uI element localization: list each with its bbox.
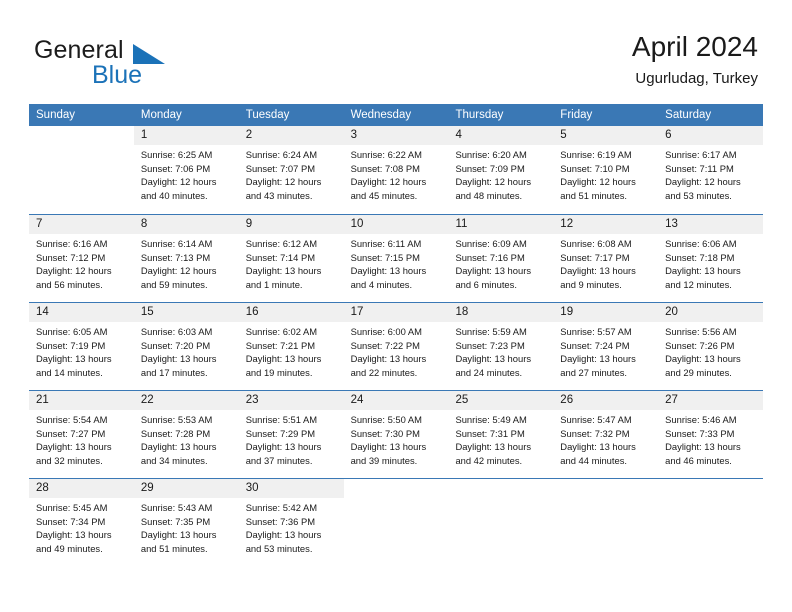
daylight-text-line1: Daylight: 13 hours <box>560 440 653 454</box>
day-number-band: 9 <box>239 215 344 234</box>
daylight-text-line1: Daylight: 13 hours <box>351 352 444 366</box>
sunrise-text: Sunrise: 6:02 AM <box>246 325 339 339</box>
day-details: Sunrise: 6:19 AM Sunset: 7:10 PM Dayligh… <box>553 145 658 202</box>
daylight-text-line1: Daylight: 13 hours <box>560 352 653 366</box>
sunrise-text: Sunrise: 6:24 AM <box>246 148 339 162</box>
day-details: Sunrise: 6:20 AM Sunset: 7:09 PM Dayligh… <box>448 145 553 202</box>
day-number-band: 4 <box>448 126 553 145</box>
day-cell[interactable]: 18 Sunrise: 5:59 AM Sunset: 7:23 PM Dayl… <box>448 303 553 390</box>
day-details: Sunrise: 5:51 AM Sunset: 7:29 PM Dayligh… <box>239 410 344 467</box>
calendar-week-row: 7 Sunrise: 6:16 AM Sunset: 7:12 PM Dayli… <box>29 214 763 302</box>
daylight-text-line2: and 37 minutes. <box>246 454 339 468</box>
day-cell[interactable]: 23 Sunrise: 5:51 AM Sunset: 7:29 PM Dayl… <box>239 391 344 478</box>
sunrise-text: Sunrise: 5:51 AM <box>246 413 339 427</box>
day-cell[interactable] <box>658 479 763 566</box>
day-number: 15 <box>134 303 239 322</box>
day-details: Sunrise: 6:16 AM Sunset: 7:12 PM Dayligh… <box>29 234 134 291</box>
daylight-text-line1: Daylight: 12 hours <box>455 175 548 189</box>
daylight-text-line1: Daylight: 13 hours <box>36 440 129 454</box>
day-number-band: 29 <box>134 479 239 498</box>
day-details: Sunrise: 5:50 AM Sunset: 7:30 PM Dayligh… <box>344 410 449 467</box>
day-number-band <box>29 126 134 145</box>
daylight-text-line2: and 1 minute. <box>246 278 339 292</box>
day-number: 8 <box>134 215 239 234</box>
daylight-text-line2: and 51 minutes. <box>560 189 653 203</box>
day-cell[interactable]: 10 Sunrise: 6:11 AM Sunset: 7:15 PM Dayl… <box>344 215 449 302</box>
daylight-text-line1: Daylight: 12 hours <box>36 264 129 278</box>
sunrise-text: Sunrise: 5:54 AM <box>36 413 129 427</box>
day-number-band: 3 <box>344 126 449 145</box>
day-number-band <box>658 479 763 498</box>
sunset-text: Sunset: 7:30 PM <box>351 427 444 441</box>
sunset-text: Sunset: 7:20 PM <box>141 339 234 353</box>
day-details <box>553 498 658 501</box>
sunset-text: Sunset: 7:07 PM <box>246 162 339 176</box>
daylight-text-line1: Daylight: 13 hours <box>351 264 444 278</box>
sunrise-text: Sunrise: 6:14 AM <box>141 237 234 251</box>
calendar-week-row: 14 Sunrise: 6:05 AM Sunset: 7:19 PM Dayl… <box>29 302 763 390</box>
weekday-header-thursday: Thursday <box>448 104 553 126</box>
sunset-text: Sunset: 7:34 PM <box>36 515 129 529</box>
day-number-band: 17 <box>344 303 449 322</box>
day-number-band: 7 <box>29 215 134 234</box>
day-cell[interactable]: 12 Sunrise: 6:08 AM Sunset: 7:17 PM Dayl… <box>553 215 658 302</box>
day-details: Sunrise: 6:25 AM Sunset: 7:06 PM Dayligh… <box>134 145 239 202</box>
daylight-text-line2: and 17 minutes. <box>141 366 234 380</box>
daylight-text-line1: Daylight: 13 hours <box>246 264 339 278</box>
day-number-band: 1 <box>134 126 239 145</box>
sunrise-text: Sunrise: 6:20 AM <box>455 148 548 162</box>
daylight-text-line2: and 22 minutes. <box>351 366 444 380</box>
logo-text-blue: Blue <box>92 61 142 90</box>
day-cell[interactable]: 25 Sunrise: 5:49 AM Sunset: 7:31 PM Dayl… <box>448 391 553 478</box>
day-number: 28 <box>29 479 134 498</box>
day-details: Sunrise: 5:43 AM Sunset: 7:35 PM Dayligh… <box>134 498 239 555</box>
day-details: Sunrise: 6:24 AM Sunset: 7:07 PM Dayligh… <box>239 145 344 202</box>
daylight-text-line1: Daylight: 13 hours <box>36 528 129 542</box>
day-cell[interactable]: 3 Sunrise: 6:22 AM Sunset: 7:08 PM Dayli… <box>344 126 449 214</box>
daylight-text-line2: and 51 minutes. <box>141 542 234 556</box>
day-cell[interactable]: 9 Sunrise: 6:12 AM Sunset: 7:14 PM Dayli… <box>239 215 344 302</box>
day-details: Sunrise: 5:46 AM Sunset: 7:33 PM Dayligh… <box>658 410 763 467</box>
day-number: 13 <box>658 215 763 234</box>
day-number-band <box>344 479 449 498</box>
day-number: 2 <box>239 126 344 145</box>
day-cell[interactable] <box>448 479 553 566</box>
sunrise-text: Sunrise: 6:19 AM <box>560 148 653 162</box>
day-details <box>658 498 763 501</box>
day-cell[interactable]: 5 Sunrise: 6:19 AM Sunset: 7:10 PM Dayli… <box>553 126 658 214</box>
day-cell[interactable]: 19 Sunrise: 5:57 AM Sunset: 7:24 PM Dayl… <box>553 303 658 390</box>
weekday-header-row: Sunday Monday Tuesday Wednesday Thursday… <box>29 104 763 126</box>
sunset-text: Sunset: 7:22 PM <box>351 339 444 353</box>
day-cell[interactable]: 24 Sunrise: 5:50 AM Sunset: 7:30 PM Dayl… <box>344 391 449 478</box>
sunrise-text: Sunrise: 6:06 AM <box>665 237 758 251</box>
sunset-text: Sunset: 7:13 PM <box>141 251 234 265</box>
daylight-text-line2: and 53 minutes. <box>665 189 758 203</box>
sunrise-text: Sunrise: 5:45 AM <box>36 501 129 515</box>
day-cell[interactable]: 14 Sunrise: 6:05 AM Sunset: 7:19 PM Dayl… <box>29 303 134 390</box>
day-number: 16 <box>239 303 344 322</box>
page-title: April 2024 <box>632 30 758 64</box>
sunrise-text: Sunrise: 5:42 AM <box>246 501 339 515</box>
day-number-band: 30 <box>239 479 344 498</box>
day-number-band: 19 <box>553 303 658 322</box>
daylight-text-line1: Daylight: 13 hours <box>246 528 339 542</box>
daylight-text-line1: Daylight: 12 hours <box>246 175 339 189</box>
day-details: Sunrise: 6:02 AM Sunset: 7:21 PM Dayligh… <box>239 322 344 379</box>
sunset-text: Sunset: 7:06 PM <box>141 162 234 176</box>
sunset-text: Sunset: 7:29 PM <box>246 427 339 441</box>
daylight-text-line1: Daylight: 12 hours <box>141 264 234 278</box>
daylight-text-line2: and 59 minutes. <box>141 278 234 292</box>
day-number-band: 26 <box>553 391 658 410</box>
day-number: 24 <box>344 391 449 410</box>
sunrise-text: Sunrise: 6:05 AM <box>36 325 129 339</box>
daylight-text-line1: Daylight: 13 hours <box>246 352 339 366</box>
sunrise-text: Sunrise: 5:59 AM <box>455 325 548 339</box>
day-cell[interactable]: 1 Sunrise: 6:25 AM Sunset: 7:06 PM Dayli… <box>134 126 239 214</box>
day-number-band: 12 <box>553 215 658 234</box>
day-number: 30 <box>239 479 344 498</box>
daylight-text-line2: and 49 minutes. <box>36 542 129 556</box>
weekday-header-monday: Monday <box>134 104 239 126</box>
sunset-text: Sunset: 7:17 PM <box>560 251 653 265</box>
sunset-text: Sunset: 7:08 PM <box>351 162 444 176</box>
day-details: Sunrise: 6:11 AM Sunset: 7:15 PM Dayligh… <box>344 234 449 291</box>
sunset-text: Sunset: 7:21 PM <box>246 339 339 353</box>
weekday-header-tuesday: Tuesday <box>239 104 344 126</box>
day-details: Sunrise: 6:17 AM Sunset: 7:11 PM Dayligh… <box>658 145 763 202</box>
day-details: Sunrise: 5:53 AM Sunset: 7:28 PM Dayligh… <box>134 410 239 467</box>
sunrise-text: Sunrise: 6:00 AM <box>351 325 444 339</box>
day-number: 23 <box>239 391 344 410</box>
daylight-text-line2: and 48 minutes. <box>455 189 548 203</box>
daylight-text-line2: and 40 minutes. <box>141 189 234 203</box>
day-details: Sunrise: 6:09 AM Sunset: 7:16 PM Dayligh… <box>448 234 553 291</box>
sunset-text: Sunset: 7:35 PM <box>141 515 234 529</box>
day-details: Sunrise: 6:03 AM Sunset: 7:20 PM Dayligh… <box>134 322 239 379</box>
day-number-band: 6 <box>658 126 763 145</box>
day-number-band: 25 <box>448 391 553 410</box>
day-number-band: 10 <box>344 215 449 234</box>
day-number: 7 <box>29 215 134 234</box>
sunset-text: Sunset: 7:09 PM <box>455 162 548 176</box>
daylight-text-line2: and 56 minutes. <box>36 278 129 292</box>
day-number: 14 <box>29 303 134 322</box>
day-number: 22 <box>134 391 239 410</box>
day-number-band: 22 <box>134 391 239 410</box>
calendar-grid: Sunday Monday Tuesday Wednesday Thursday… <box>29 104 763 566</box>
day-number: 26 <box>553 391 658 410</box>
daylight-text-line2: and 53 minutes. <box>246 542 339 556</box>
daylight-text-line2: and 4 minutes. <box>351 278 444 292</box>
day-number-band: 21 <box>29 391 134 410</box>
daylight-text-line1: Daylight: 12 hours <box>665 175 758 189</box>
sunrise-text: Sunrise: 5:53 AM <box>141 413 234 427</box>
day-number: 27 <box>658 391 763 410</box>
weekday-header-sunday: Sunday <box>29 104 134 126</box>
day-number-band: 28 <box>29 479 134 498</box>
sunrise-text: Sunrise: 6:08 AM <box>560 237 653 251</box>
sunrise-text: Sunrise: 6:03 AM <box>141 325 234 339</box>
day-number-band: 5 <box>553 126 658 145</box>
sunrise-text: Sunrise: 5:56 AM <box>665 325 758 339</box>
sunset-text: Sunset: 7:19 PM <box>36 339 129 353</box>
day-details: Sunrise: 5:45 AM Sunset: 7:34 PM Dayligh… <box>29 498 134 555</box>
day-cell[interactable] <box>553 479 658 566</box>
general-blue-logo[interactable]: General Blue <box>34 36 274 90</box>
daylight-text-line2: and 32 minutes. <box>36 454 129 468</box>
daylight-text-line1: Daylight: 12 hours <box>560 175 653 189</box>
daylight-text-line2: and 34 minutes. <box>141 454 234 468</box>
day-details: Sunrise: 6:06 AM Sunset: 7:18 PM Dayligh… <box>658 234 763 291</box>
day-cell[interactable]: 4 Sunrise: 6:20 AM Sunset: 7:09 PM Dayli… <box>448 126 553 214</box>
day-number-band: 16 <box>239 303 344 322</box>
day-cell[interactable]: 11 Sunrise: 6:09 AM Sunset: 7:16 PM Dayl… <box>448 215 553 302</box>
daylight-text-line2: and 12 minutes. <box>665 278 758 292</box>
day-details: Sunrise: 6:12 AM Sunset: 7:14 PM Dayligh… <box>239 234 344 291</box>
day-number: 29 <box>134 479 239 498</box>
sunrise-text: Sunrise: 5:57 AM <box>560 325 653 339</box>
daylight-text-line1: Daylight: 13 hours <box>351 440 444 454</box>
daylight-text-line1: Daylight: 12 hours <box>141 175 234 189</box>
calendar-week-row: 28 Sunrise: 5:45 AM Sunset: 7:34 PM Dayl… <box>29 478 763 566</box>
day-number-band: 27 <box>658 391 763 410</box>
day-details: Sunrise: 6:08 AM Sunset: 7:17 PM Dayligh… <box>553 234 658 291</box>
sunrise-text: Sunrise: 5:46 AM <box>665 413 758 427</box>
sunrise-text: Sunrise: 5:49 AM <box>455 413 548 427</box>
day-cell[interactable]: 26 Sunrise: 5:47 AM Sunset: 7:32 PM Dayl… <box>553 391 658 478</box>
day-number: 1 <box>134 126 239 145</box>
title-block: April 2024 Ugurludag, Turkey <box>632 30 758 90</box>
daylight-text-line1: Daylight: 13 hours <box>665 264 758 278</box>
day-cell[interactable]: 17 Sunrise: 6:00 AM Sunset: 7:22 PM Dayl… <box>344 303 449 390</box>
day-number-band: 18 <box>448 303 553 322</box>
daylight-text-line1: Daylight: 13 hours <box>455 264 548 278</box>
day-cell[interactable]: 22 Sunrise: 5:53 AM Sunset: 7:28 PM Dayl… <box>134 391 239 478</box>
daylight-text-line2: and 46 minutes. <box>665 454 758 468</box>
calendar-week-row: 1 Sunrise: 6:25 AM Sunset: 7:06 PM Dayli… <box>29 126 763 214</box>
weekday-header-friday: Friday <box>553 104 658 126</box>
day-number-band: 8 <box>134 215 239 234</box>
sunrise-text: Sunrise: 6:09 AM <box>455 237 548 251</box>
day-details: Sunrise: 5:57 AM Sunset: 7:24 PM Dayligh… <box>553 322 658 379</box>
day-cell[interactable]: 7 Sunrise: 6:16 AM Sunset: 7:12 PM Dayli… <box>29 215 134 302</box>
day-number: 9 <box>239 215 344 234</box>
day-number-band: 13 <box>658 215 763 234</box>
day-number: 12 <box>553 215 658 234</box>
day-details: Sunrise: 5:59 AM Sunset: 7:23 PM Dayligh… <box>448 322 553 379</box>
day-number-band: 15 <box>134 303 239 322</box>
daylight-text-line1: Daylight: 13 hours <box>665 440 758 454</box>
day-number-band: 14 <box>29 303 134 322</box>
day-details <box>344 498 449 501</box>
day-details: Sunrise: 6:00 AM Sunset: 7:22 PM Dayligh… <box>344 322 449 379</box>
daylight-text-line2: and 39 minutes. <box>351 454 444 468</box>
day-cell[interactable]: 13 Sunrise: 6:06 AM Sunset: 7:18 PM Dayl… <box>658 215 763 302</box>
sunset-text: Sunset: 7:31 PM <box>455 427 548 441</box>
sunrise-text: Sunrise: 6:16 AM <box>36 237 129 251</box>
day-details <box>448 498 553 501</box>
day-cell[interactable]: 8 Sunrise: 6:14 AM Sunset: 7:13 PM Dayli… <box>134 215 239 302</box>
daylight-text-line2: and 9 minutes. <box>560 278 653 292</box>
sunrise-text: Sunrise: 6:17 AM <box>665 148 758 162</box>
day-cell[interactable]: 27 Sunrise: 5:46 AM Sunset: 7:33 PM Dayl… <box>658 391 763 478</box>
day-number-band: 2 <box>239 126 344 145</box>
day-cell[interactable]: 16 Sunrise: 6:02 AM Sunset: 7:21 PM Dayl… <box>239 303 344 390</box>
day-number-band <box>553 479 658 498</box>
sunset-text: Sunset: 7:32 PM <box>560 427 653 441</box>
day-details: Sunrise: 6:14 AM Sunset: 7:13 PM Dayligh… <box>134 234 239 291</box>
sunset-text: Sunset: 7:33 PM <box>665 427 758 441</box>
day-number: 21 <box>29 391 134 410</box>
sunset-text: Sunset: 7:27 PM <box>36 427 129 441</box>
day-details: Sunrise: 5:49 AM Sunset: 7:31 PM Dayligh… <box>448 410 553 467</box>
day-cell[interactable]: 2 Sunrise: 6:24 AM Sunset: 7:07 PM Dayli… <box>239 126 344 214</box>
day-cell[interactable] <box>29 126 134 214</box>
daylight-text-line1: Daylight: 13 hours <box>246 440 339 454</box>
day-number: 6 <box>658 126 763 145</box>
day-details: Sunrise: 5:56 AM Sunset: 7:26 PM Dayligh… <box>658 322 763 379</box>
daylight-text-line1: Daylight: 12 hours <box>351 175 444 189</box>
day-number: 4 <box>448 126 553 145</box>
calendar-page: General Blue April 2024 Ugurludag, Turke… <box>0 0 792 612</box>
day-cell[interactable]: 21 Sunrise: 5:54 AM Sunset: 7:27 PM Dayl… <box>29 391 134 478</box>
daylight-text-line2: and 42 minutes. <box>455 454 548 468</box>
day-cell[interactable]: 15 Sunrise: 6:03 AM Sunset: 7:20 PM Dayl… <box>134 303 239 390</box>
page-header: General Blue April 2024 Ugurludag, Turke… <box>0 0 792 104</box>
day-details: Sunrise: 5:54 AM Sunset: 7:27 PM Dayligh… <box>29 410 134 467</box>
daylight-text-line1: Daylight: 13 hours <box>455 440 548 454</box>
daylight-text-line2: and 27 minutes. <box>560 366 653 380</box>
day-number: 3 <box>344 126 449 145</box>
daylight-text-line1: Daylight: 13 hours <box>141 440 234 454</box>
sunset-text: Sunset: 7:16 PM <box>455 251 548 265</box>
daylight-text-line1: Daylight: 13 hours <box>141 352 234 366</box>
day-number: 17 <box>344 303 449 322</box>
day-number-band: 20 <box>658 303 763 322</box>
day-cell[interactable]: 20 Sunrise: 5:56 AM Sunset: 7:26 PM Dayl… <box>658 303 763 390</box>
page-subtitle-location: Ugurludag, Turkey <box>632 68 758 90</box>
day-number: 11 <box>448 215 553 234</box>
sunrise-text: Sunrise: 5:43 AM <box>141 501 234 515</box>
daylight-text-line2: and 44 minutes. <box>560 454 653 468</box>
daylight-text-line1: Daylight: 13 hours <box>141 528 234 542</box>
daylight-text-line1: Daylight: 13 hours <box>665 352 758 366</box>
weekday-header-wednesday: Wednesday <box>344 104 449 126</box>
day-cell[interactable]: 28 Sunrise: 5:45 AM Sunset: 7:34 PM Dayl… <box>29 479 134 566</box>
sunset-text: Sunset: 7:23 PM <box>455 339 548 353</box>
daylight-text-line2: and 45 minutes. <box>351 189 444 203</box>
day-cell[interactable]: 6 Sunrise: 6:17 AM Sunset: 7:11 PM Dayli… <box>658 126 763 214</box>
sunrise-text: Sunrise: 6:11 AM <box>351 237 444 251</box>
day-number: 18 <box>448 303 553 322</box>
sunset-text: Sunset: 7:11 PM <box>665 162 758 176</box>
daylight-text-line2: and 14 minutes. <box>36 366 129 380</box>
sunset-text: Sunset: 7:26 PM <box>665 339 758 353</box>
weekday-header-saturday: Saturday <box>658 104 763 126</box>
day-details <box>29 145 134 148</box>
day-number-band: 24 <box>344 391 449 410</box>
day-details: Sunrise: 5:47 AM Sunset: 7:32 PM Dayligh… <box>553 410 658 467</box>
day-number: 5 <box>553 126 658 145</box>
sunset-text: Sunset: 7:36 PM <box>246 515 339 529</box>
sunset-text: Sunset: 7:28 PM <box>141 427 234 441</box>
day-details: Sunrise: 6:22 AM Sunset: 7:08 PM Dayligh… <box>344 145 449 202</box>
day-details: Sunrise: 5:42 AM Sunset: 7:36 PM Dayligh… <box>239 498 344 555</box>
sunrise-text: Sunrise: 6:12 AM <box>246 237 339 251</box>
sunset-text: Sunset: 7:10 PM <box>560 162 653 176</box>
sunset-text: Sunset: 7:14 PM <box>246 251 339 265</box>
day-number: 25 <box>448 391 553 410</box>
daylight-text-line2: and 24 minutes. <box>455 366 548 380</box>
sunrise-text: Sunrise: 5:50 AM <box>351 413 444 427</box>
sunset-text: Sunset: 7:15 PM <box>351 251 444 265</box>
sunrise-text: Sunrise: 6:22 AM <box>351 148 444 162</box>
day-number-band <box>448 479 553 498</box>
day-cell[interactable]: 30 Sunrise: 5:42 AM Sunset: 7:36 PM Dayl… <box>239 479 344 566</box>
daylight-text-line1: Daylight: 13 hours <box>36 352 129 366</box>
daylight-text-line2: and 43 minutes. <box>246 189 339 203</box>
day-number: 19 <box>553 303 658 322</box>
sunset-text: Sunset: 7:18 PM <box>665 251 758 265</box>
daylight-text-line1: Daylight: 13 hours <box>560 264 653 278</box>
day-cell[interactable]: 29 Sunrise: 5:43 AM Sunset: 7:35 PM Dayl… <box>134 479 239 566</box>
day-details: Sunrise: 6:05 AM Sunset: 7:19 PM Dayligh… <box>29 322 134 379</box>
day-cell[interactable] <box>344 479 449 566</box>
day-number: 10 <box>344 215 449 234</box>
sunset-text: Sunset: 7:24 PM <box>560 339 653 353</box>
daylight-text-line2: and 19 minutes. <box>246 366 339 380</box>
day-number: 20 <box>658 303 763 322</box>
daylight-text-line2: and 6 minutes. <box>455 278 548 292</box>
day-number-band: 23 <box>239 391 344 410</box>
day-number-band: 11 <box>448 215 553 234</box>
daylight-text-line1: Daylight: 13 hours <box>455 352 548 366</box>
sunset-text: Sunset: 7:12 PM <box>36 251 129 265</box>
calendar-week-row: 21 Sunrise: 5:54 AM Sunset: 7:27 PM Dayl… <box>29 390 763 478</box>
daylight-text-line2: and 29 minutes. <box>665 366 758 380</box>
sunrise-text: Sunrise: 6:25 AM <box>141 148 234 162</box>
sunrise-text: Sunrise: 5:47 AM <box>560 413 653 427</box>
